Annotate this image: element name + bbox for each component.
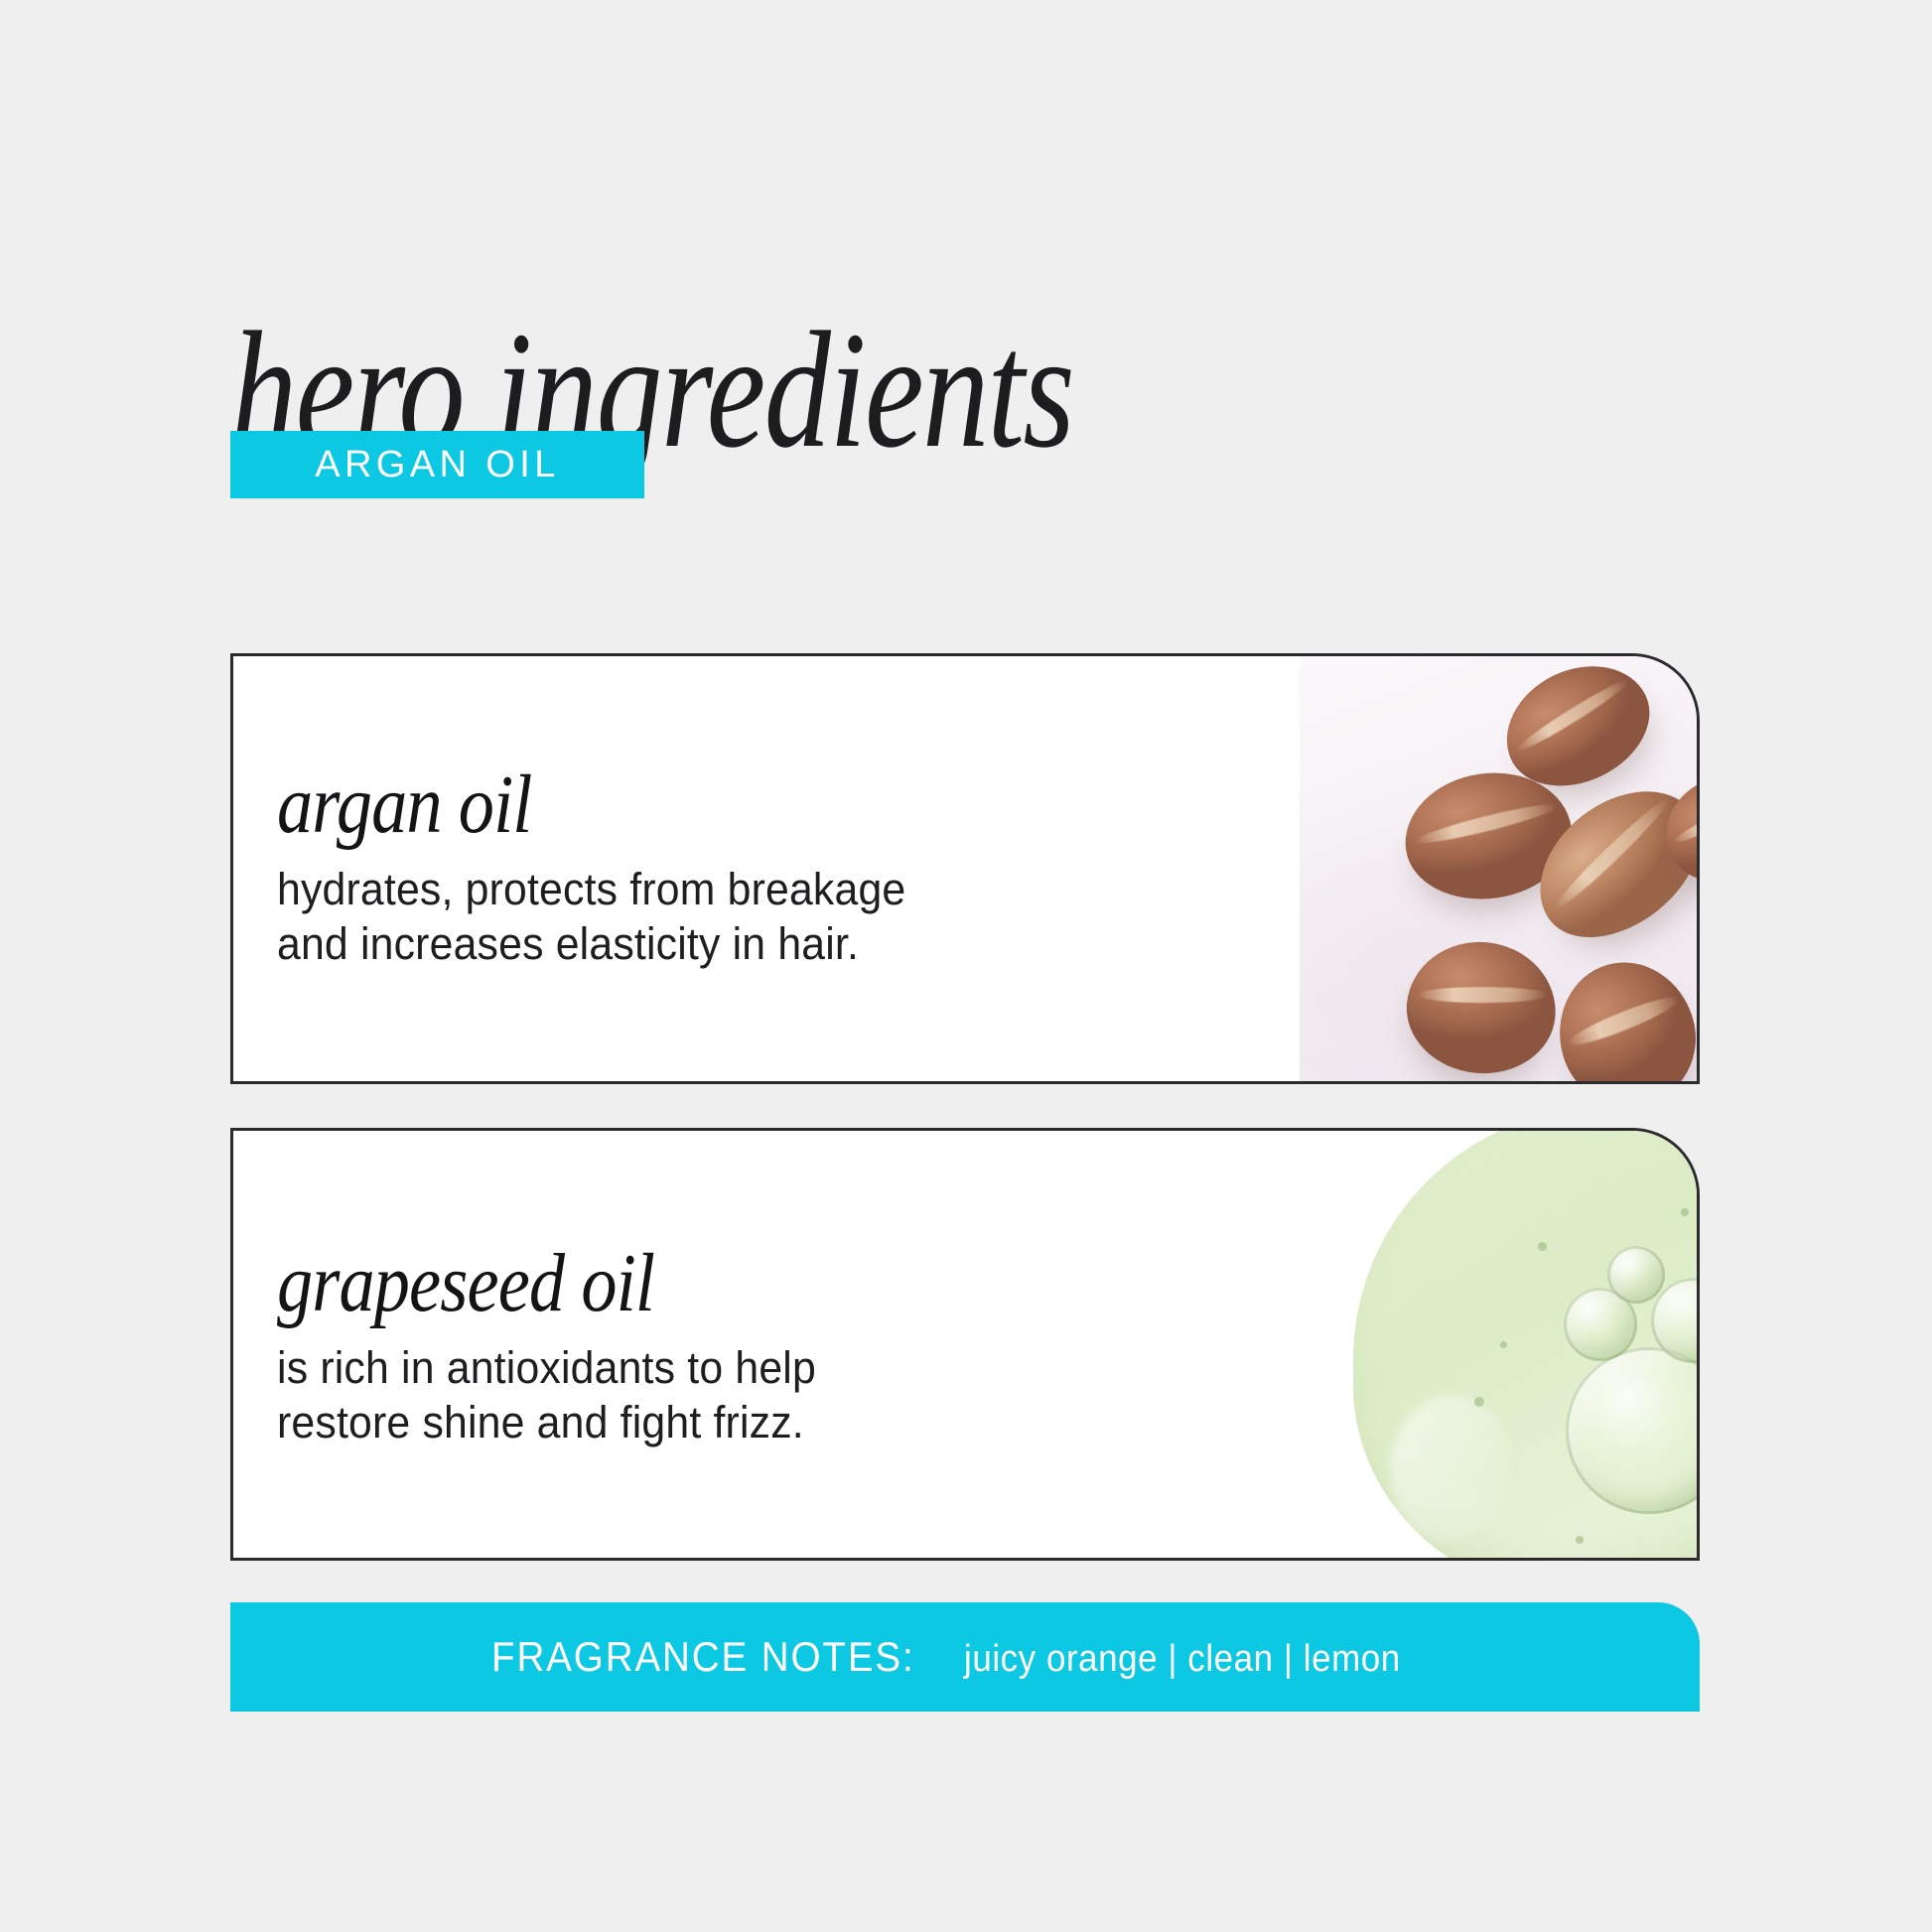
oil-speck-icon [1681, 1208, 1689, 1216]
fragrance-notes-values: juicy orange | clean | lemon [964, 1638, 1401, 1681]
argan-oil-description: hydrates, protects from breakage and inc… [277, 863, 905, 972]
fragrance-notes-bar: FRAGRANCE NOTES: juicy orange | clean | … [230, 1602, 1700, 1712]
oil-droplet-shape [1353, 1131, 1697, 1558]
oil-speck-icon [1538, 1242, 1547, 1251]
argan-oil-title: argan oil [277, 763, 846, 847]
grapeseed-oil-description: is rich in antioxidants to help restore … [277, 1341, 816, 1450]
oil-speck-icon [1474, 1397, 1484, 1407]
fragrance-notes-label: FRAGRANCE NOTES: [491, 1633, 915, 1681]
oil-speck-icon [1576, 1536, 1584, 1544]
ingredient-card-grapeseed-oil: grapeseed oil is rich in antioxidants to… [230, 1128, 1700, 1561]
grapeseed-oil-title: grapeseed oil [277, 1242, 765, 1325]
oil-speck-icon [1500, 1341, 1507, 1348]
fragrance-notes-content: FRAGRANCE NOTES: juicy orange | clean | … [491, 1633, 1439, 1681]
ingredient-card-argan-oil: argan oil hydrates, protects from breaka… [230, 653, 1700, 1084]
argan-nut-icon [1401, 935, 1563, 1081]
oil-bubble-icon [1566, 1347, 1697, 1514]
grapeseed-oil-text-block: grapeseed oil is rich in antioxidants to… [277, 1242, 845, 1450]
argan-nuts-image [1300, 656, 1697, 1081]
hero-ingredients-infographic: hero ingredients ARGAN OIL argan oil hyd… [0, 0, 1932, 1932]
ingredient-badge-label: ARGAN OIL [315, 446, 560, 483]
oil-bubble-icon [1607, 1246, 1665, 1304]
argan-oil-text-block: argan oil hydrates, protects from breaka… [277, 763, 939, 972]
grapeseed-oil-image [1300, 1131, 1697, 1558]
argan-nut-icon [1543, 946, 1697, 1081]
ingredient-badge: ARGAN OIL [230, 431, 644, 498]
